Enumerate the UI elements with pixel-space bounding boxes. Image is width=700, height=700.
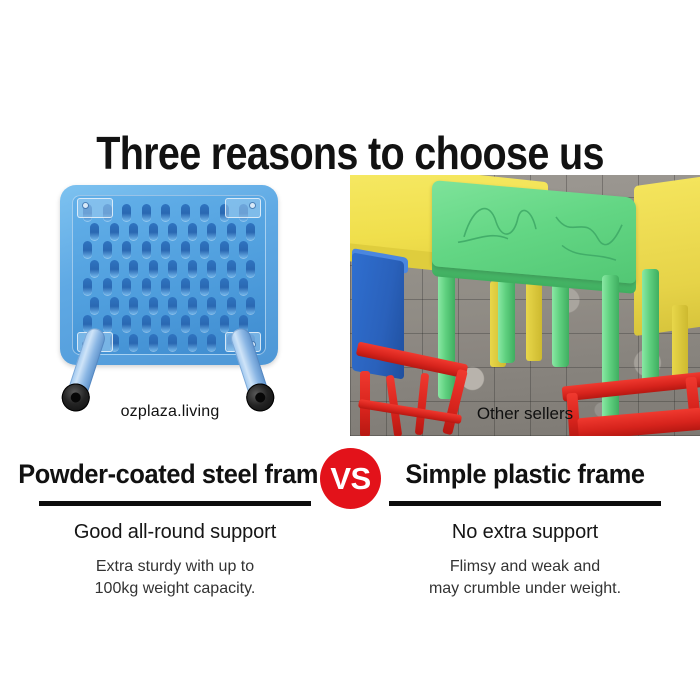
vs-badge: VS <box>320 448 381 509</box>
table-rib <box>168 223 177 240</box>
table-rib <box>200 241 209 258</box>
comparison-band: ozplaza.living <box>0 175 700 437</box>
table-rib <box>168 297 177 314</box>
table-rib <box>207 334 216 351</box>
yellow-table-leg <box>526 275 542 361</box>
table-rib <box>142 278 151 295</box>
competitor-photo: Other sellers <box>350 175 700 436</box>
table-rib <box>181 204 190 221</box>
feature-subheading: No extra support <box>350 520 700 544</box>
table-rib <box>149 334 158 351</box>
table-rib <box>122 315 131 332</box>
screw-dot <box>250 203 255 208</box>
table-rib <box>227 223 236 240</box>
table-rib <box>122 278 131 295</box>
feature-heading: Powder-coated steel frame <box>11 458 340 490</box>
red-chair-strut <box>442 369 468 435</box>
competitor-photo-caption: Other sellers <box>350 404 700 424</box>
table-rib <box>129 260 138 277</box>
feature-subheading: Good all-round support <box>0 520 350 544</box>
heading-divider <box>39 501 311 506</box>
green-table-leg <box>642 269 659 385</box>
green-table-leg <box>552 279 569 367</box>
table-rib <box>168 260 177 277</box>
table-rib <box>227 260 236 277</box>
table-rib <box>161 204 170 221</box>
table-rib <box>161 241 170 258</box>
table-rib <box>220 278 229 295</box>
feature-body: Extra sturdy with up to 100kg weight cap… <box>0 556 350 600</box>
table-rib <box>129 297 138 314</box>
red-chair-rail <box>562 371 700 401</box>
table-rib <box>227 297 236 314</box>
table-rib <box>161 315 170 332</box>
table-rib <box>181 278 190 295</box>
table-rib <box>246 260 255 277</box>
table-rib <box>83 241 92 258</box>
crayon-scribble-icon <box>456 192 546 258</box>
corner-bracket <box>225 198 261 218</box>
table-rib <box>246 223 255 240</box>
table-rib <box>207 260 216 277</box>
table-rib <box>110 260 119 277</box>
table-rib <box>103 278 112 295</box>
table-rib <box>188 260 197 277</box>
table-rib <box>200 204 209 221</box>
green-table-leg <box>498 279 515 363</box>
product-photo-ozplaza: ozplaza.living <box>0 175 340 437</box>
table-rib <box>110 297 119 314</box>
table-rib <box>142 241 151 258</box>
table-rib <box>168 334 177 351</box>
table-rib <box>200 278 209 295</box>
table-rib <box>129 223 138 240</box>
table-rib <box>246 297 255 314</box>
table-rib <box>207 223 216 240</box>
green-table-top <box>432 180 636 284</box>
table-rib <box>122 204 131 221</box>
feature-body-line: Flimsy and weak and <box>350 556 700 578</box>
table-rib <box>181 315 190 332</box>
table-rib <box>103 241 112 258</box>
table-rib-pattern <box>83 204 255 346</box>
table-rib <box>142 204 151 221</box>
table-rib <box>200 315 209 332</box>
feature-column-ozplaza: Powder-coated steel frame Good all-round… <box>0 458 350 600</box>
table-rib <box>90 223 99 240</box>
red-chair-right <box>562 369 700 436</box>
page-title: Three reasons to choose us <box>49 127 651 179</box>
table-rib <box>181 241 190 258</box>
table-rib <box>103 315 112 332</box>
table-rib <box>239 241 248 258</box>
screw-dot <box>83 203 88 208</box>
table-rib <box>149 260 158 277</box>
table-rib <box>207 297 216 314</box>
feature-body: Flimsy and weak and may crumble under we… <box>350 556 700 600</box>
table-rib <box>188 297 197 314</box>
table-rib <box>220 315 229 332</box>
blue-table-illustration <box>52 179 286 415</box>
feature-body-line: 100kg weight capacity. <box>0 578 350 600</box>
table-rib <box>90 260 99 277</box>
product-photo-caption: ozplaza.living <box>0 403 340 421</box>
table-rib <box>110 223 119 240</box>
table-rib <box>188 223 197 240</box>
corner-bracket <box>77 198 113 218</box>
table-rib <box>220 241 229 258</box>
feature-body-line: may crumble under weight. <box>350 578 700 600</box>
table-rib <box>149 297 158 314</box>
table-rib <box>83 278 92 295</box>
table-rib <box>122 241 131 258</box>
feature-body-line: Extra sturdy with up to <box>0 556 350 578</box>
table-rib <box>149 223 158 240</box>
table-rib <box>129 334 138 351</box>
table-rib <box>161 278 170 295</box>
feature-heading: Simple plastic frame <box>361 458 690 490</box>
crayon-scribble-icon <box>550 204 628 267</box>
heading-divider <box>389 501 661 506</box>
table-rib <box>188 334 197 351</box>
feature-column-other-sellers: Simple plastic frame No extra support Fl… <box>350 458 700 600</box>
table-rib <box>90 297 99 314</box>
table-rib <box>239 278 248 295</box>
table-rib <box>142 315 151 332</box>
